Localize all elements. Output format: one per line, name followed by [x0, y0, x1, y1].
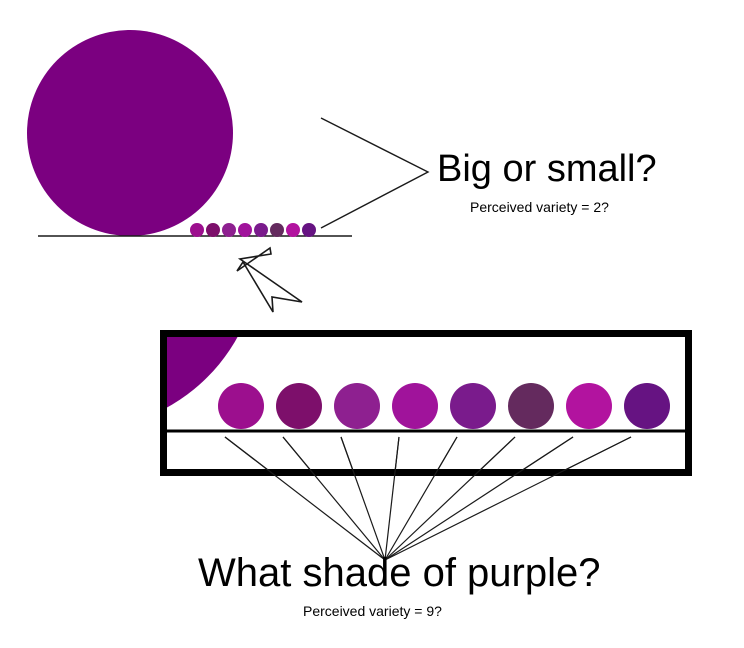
page-title-top: Big or small? — [437, 150, 657, 188]
magnified-circle — [450, 383, 496, 429]
illustration-canvas: Big or small? Perceived variety = 2? Wha… — [0, 0, 744, 648]
magnified-circle — [276, 383, 322, 429]
small-dot — [206, 223, 220, 237]
small-dot — [302, 223, 316, 237]
subtitle-top: Perceived variety = 2? — [470, 200, 609, 214]
small-dot — [286, 223, 300, 237]
large-purple-circle — [27, 30, 233, 236]
magnified-circle — [624, 383, 670, 429]
small-dot — [238, 223, 252, 237]
magnified-circle — [218, 383, 264, 429]
small-dot — [222, 223, 236, 237]
magnified-circle — [334, 383, 380, 429]
small-dot-row — [190, 223, 316, 237]
subtitle-bottom: Perceived variety = 9? — [303, 604, 442, 618]
callout-bracket-top — [321, 118, 428, 228]
magnified-circle — [566, 383, 612, 429]
page-title-bottom: What shade of purple? — [198, 553, 600, 593]
magnified-circle — [508, 383, 554, 429]
small-dot — [254, 223, 268, 237]
small-dot — [270, 223, 284, 237]
magnified-circle — [392, 383, 438, 429]
small-dot — [190, 223, 204, 237]
down-right-arrow — [237, 248, 302, 312]
